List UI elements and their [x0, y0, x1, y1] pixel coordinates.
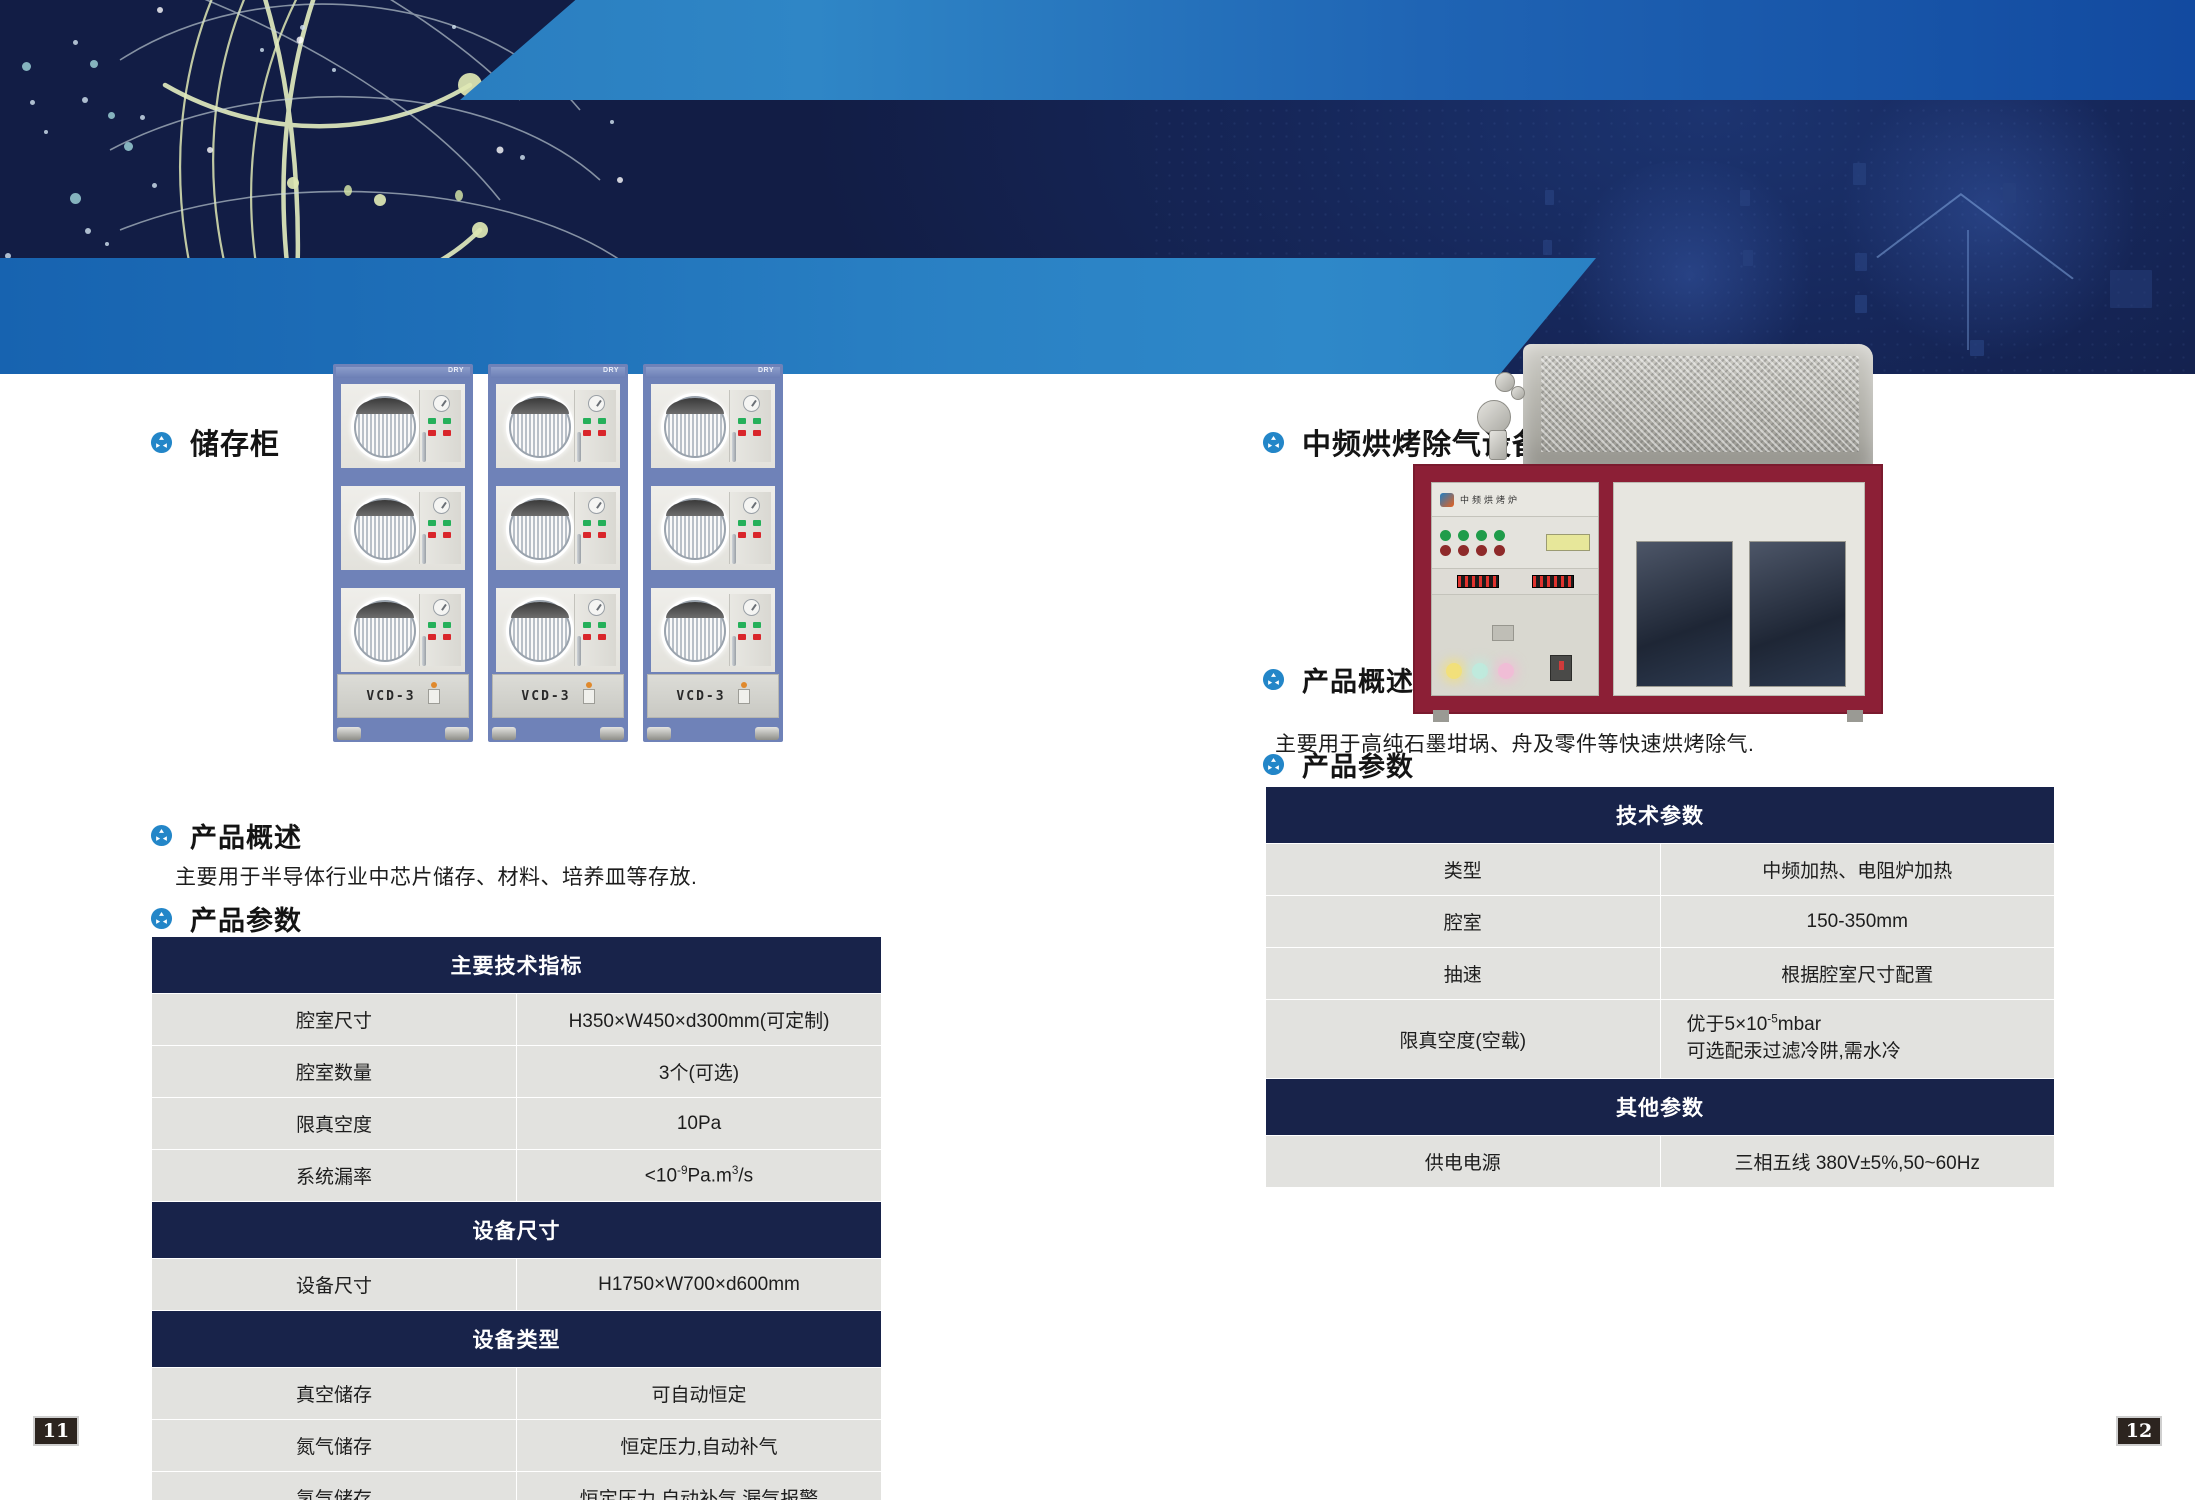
page-number-left: 11	[33, 1416, 79, 1446]
status-led-red	[753, 430, 761, 436]
indicator-lamp-group	[1446, 663, 1514, 679]
chamber-porthole	[664, 498, 726, 560]
power-socket-icon	[428, 689, 440, 704]
pressure-gauge-icon	[588, 395, 605, 412]
right-spec-table: 技术参数 类型 中频加热、电阻炉加热 腔室 150-350mm 抽速 根据腔室尺…	[1265, 786, 2055, 1188]
status-led-red	[753, 532, 761, 538]
cabinet-chamber	[649, 586, 777, 674]
cabinet-base: VCD-3	[647, 674, 779, 718]
furnace-digital-readouts	[1432, 569, 1598, 595]
row-key: 系统漏率	[152, 1150, 517, 1202]
chamber-control-panel	[419, 492, 461, 564]
chamber-porthole	[509, 498, 571, 560]
row-key: 限真空度	[152, 1098, 517, 1150]
table-row: 腔室数量 3个(可选)	[152, 1046, 882, 1098]
recycle-bullet-icon	[150, 907, 173, 930]
left-params-heading-row: 产品参数	[150, 899, 302, 938]
chamber-control-panel	[729, 390, 771, 462]
cabinet-unit-1: DRY	[333, 364, 473, 742]
right-overview-heading-row: 产品概述	[1262, 660, 1414, 699]
status-led-red	[598, 634, 606, 640]
controller-lcd-display	[1546, 534, 1590, 551]
tech-square-11	[2110, 270, 2152, 308]
left-spec-table: 主要技术指标 腔室尺寸 H350×W450×d300mm(可定制) 腔室数量 3…	[151, 936, 882, 1500]
cabinet-chamber	[649, 382, 777, 470]
recycle-bullet-icon	[150, 824, 173, 847]
flange-part	[1511, 386, 1525, 400]
banner-bottom-band	[0, 258, 1596, 374]
tech-square-2	[2003, 183, 2016, 203]
status-led-green	[598, 622, 606, 628]
table-section-header: 其他参数	[1266, 1079, 2055, 1136]
row-key: 设备尺寸	[152, 1259, 517, 1311]
power-socket-icon	[583, 689, 595, 704]
row-key: 氢气储存	[152, 1472, 517, 1500]
chamber-porthole	[509, 396, 571, 458]
row-value-vacuum: 优于5×10-5mbar 可选配汞过滤冷阱,需水冷	[1660, 1000, 2055, 1079]
status-led-green	[443, 520, 451, 526]
status-led-green	[753, 418, 761, 424]
left-overview-heading: 产品概述	[190, 816, 302, 855]
furnace-control-column: 中频烘烤炉	[1431, 482, 1599, 696]
status-led-red	[753, 634, 761, 640]
row-value: 三相五线 380V±5%,50~60Hz	[1660, 1136, 2055, 1188]
status-led-red	[738, 430, 746, 436]
power-socket-icon	[738, 689, 750, 704]
page-banner	[0, 0, 2195, 374]
cabinet-model-label: VCD-3	[676, 689, 725, 704]
cabinet-chamber	[494, 484, 622, 572]
row-value: 根据腔室尺寸配置	[1660, 948, 2055, 1000]
row-value: 中频加热、电阻炉加热	[1660, 844, 2055, 896]
table-row: 系统漏率 <10-9Pa.m3/s	[152, 1150, 882, 1202]
tech-square-6	[1740, 190, 1750, 206]
chamber-porthole	[664, 396, 726, 458]
cabinet-brand-label: DRY	[603, 367, 619, 374]
door-handle	[422, 636, 426, 666]
cabinet-unit-2: DRY	[488, 364, 628, 742]
chamber-porthole	[354, 498, 416, 560]
cabinet-casters	[488, 718, 628, 742]
row-key: 氮气储存	[152, 1420, 517, 1472]
chamber-control-panel	[574, 492, 616, 564]
row-value: 150-350mm	[1660, 896, 2055, 948]
right-overview-heading: 产品概述	[1302, 660, 1414, 699]
chamber-control-panel	[419, 390, 461, 462]
cabinet-chamber	[494, 382, 622, 470]
furnace-lower-panel	[1432, 595, 1598, 695]
banner-glow-1	[1560, 160, 1820, 374]
chamber-control-panel	[574, 594, 616, 666]
table-row: 氮气储存 恒定压力,自动补气	[152, 1420, 882, 1472]
status-led-red	[598, 430, 606, 436]
status-led-red	[738, 634, 746, 640]
lamp-yellow	[1446, 663, 1462, 679]
tech-square-9	[1543, 240, 1552, 255]
cabinet-base: VCD-3	[337, 674, 469, 718]
status-led-red	[428, 634, 436, 640]
table-row: 设备尺寸 H1750×W700×d600mm	[152, 1259, 882, 1311]
table-row: 腔室尺寸 H350×W450×d300mm(可定制)	[152, 994, 882, 1046]
cabinet-chamber	[649, 484, 777, 572]
status-led-red	[598, 532, 606, 538]
left-page-column: 储存柜 DRY	[0, 374, 1097, 1500]
door-handle	[422, 432, 426, 462]
table-section-header: 设备尺寸	[152, 1202, 882, 1259]
row-key: 腔室尺寸	[152, 994, 517, 1046]
row-value: 恒定压力,自动补气,漏气报警	[517, 1472, 882, 1500]
right-page-column: 中频烘烤除气设备 中频烘烤炉	[1097, 374, 2195, 1500]
status-led-red	[428, 430, 436, 436]
status-led-green	[738, 622, 746, 628]
row-value: 可自动恒定	[517, 1368, 882, 1420]
door-handle	[732, 432, 736, 462]
chamber-control-panel	[729, 594, 771, 666]
bay-window-left	[1636, 541, 1733, 687]
door-handle	[732, 534, 736, 564]
tech-square-8	[1545, 190, 1554, 205]
furnace-flange-assembly	[1471, 366, 1541, 452]
row-value: 10Pa	[517, 1098, 882, 1150]
vent-grille-icon	[1492, 625, 1514, 641]
table-row: 真空储存 可自动恒定	[152, 1368, 882, 1420]
row-value: H350×W450×d300mm(可定制)	[517, 994, 882, 1046]
recycle-bullet-icon	[150, 431, 173, 454]
door-handle	[422, 534, 426, 564]
pressure-gauge-icon	[588, 599, 605, 616]
page-number-right: 12	[2116, 1416, 2162, 1446]
cabinet-chamber	[339, 484, 467, 572]
status-led-green	[428, 520, 436, 526]
left-product-title: 储存柜	[190, 421, 280, 463]
row-value: 3个(可选)	[517, 1046, 882, 1098]
furnace-cabinet-inner: 中频烘烤炉	[1431, 482, 1865, 696]
induction-furnace-image: 中频烘烤炉	[1413, 344, 1883, 744]
status-led-red	[428, 532, 436, 538]
cabinet-casters	[333, 718, 473, 742]
left-product-title-row: 储存柜	[150, 421, 280, 463]
status-led-red	[443, 430, 451, 436]
status-led-red	[583, 430, 591, 436]
table-row: 腔室 150-350mm	[1266, 896, 2055, 948]
chamber-control-panel	[419, 594, 461, 666]
cabinet-base: VCD-3	[492, 674, 624, 718]
row-key: 供电电源	[1266, 1136, 1661, 1188]
pressure-gauge-icon	[743, 497, 760, 514]
pressure-gauge-icon	[433, 497, 450, 514]
left-overview-heading-row: 产品概述	[150, 816, 302, 855]
status-led-green	[428, 418, 436, 424]
row-key: 类型	[1266, 844, 1661, 896]
status-led-red	[443, 532, 451, 538]
status-led-red	[738, 532, 746, 538]
section-title: 技术参数	[1266, 787, 2055, 844]
section-title: 主要技术指标	[152, 937, 882, 994]
recycle-bullet-icon	[1262, 431, 1285, 454]
cabinet-casters	[643, 718, 783, 742]
tech-square-5	[1970, 340, 1984, 356]
tech-square-3	[1855, 253, 1867, 271]
table-section-header: 主要技术指标	[152, 937, 882, 994]
pressure-gauge-icon	[743, 599, 760, 616]
button-pair[interactable]	[1440, 530, 1451, 556]
chamber-porthole	[354, 600, 416, 662]
tech-square-1	[1853, 163, 1866, 185]
lamp-cyan	[1472, 663, 1488, 679]
table-row: 限真空度 10Pa	[152, 1098, 882, 1150]
table-row: 氢气储存 恒定压力,自动补气,漏气报警	[152, 1472, 882, 1500]
section-title: 其他参数	[1266, 1079, 2055, 1136]
pressure-gauge-icon	[743, 395, 760, 412]
cabinet-model-label: VCD-3	[521, 689, 570, 704]
chamber-control-panel	[574, 390, 616, 462]
cabinet-brand-label: DRY	[758, 367, 774, 374]
button-pair[interactable]	[1458, 530, 1469, 556]
table-section-header: 技术参数	[1266, 787, 2055, 844]
left-overview-text: 主要用于半导体行业中芯片储存、材料、培养皿等存放.	[175, 861, 697, 891]
cabinet-model-label: VCD-3	[366, 689, 415, 704]
furnace-equipment-bay	[1613, 482, 1865, 696]
table-row: 抽速 根据腔室尺寸配置	[1266, 948, 2055, 1000]
cabinet-unit-3: DRY	[643, 364, 783, 742]
button-pair[interactable]	[1476, 530, 1487, 556]
cabinet-chamber	[339, 382, 467, 470]
furnace-vacuum-chamber	[1523, 344, 1873, 474]
furnace-name-label: 中频烘烤炉	[1460, 493, 1520, 506]
chamber-porthole	[509, 600, 571, 662]
table-row: 供电电源 三相五线 380V±5%,50~60Hz	[1266, 1136, 2055, 1188]
chamber-control-panel	[729, 492, 771, 564]
table-row: 类型 中频加热、电阻炉加热	[1266, 844, 2055, 896]
door-handle	[577, 636, 581, 666]
table-row: 限真空度(空载) 优于5×10-5mbar 可选配汞过滤冷阱,需水冷	[1266, 1000, 2055, 1079]
tech-square-4	[1855, 295, 1867, 313]
chamber-porthole	[354, 396, 416, 458]
company-logo-icon	[1440, 493, 1454, 507]
flange-part	[1477, 400, 1511, 434]
row-value: 恒定压力,自动补气	[517, 1420, 882, 1472]
furnace-button-panel	[1432, 517, 1598, 569]
right-params-heading: 产品参数	[1302, 745, 1414, 784]
row-value-leakrate: <10-9Pa.m3/s	[517, 1150, 882, 1202]
cabinet-chamber	[339, 586, 467, 674]
door-handle	[577, 534, 581, 564]
row-key: 真空储存	[152, 1368, 517, 1420]
door-handle	[732, 636, 736, 666]
tech-square-7	[1743, 250, 1753, 266]
cabinet-chamber	[494, 586, 622, 674]
banner-top-parallelogram	[460, 0, 2195, 100]
equipment-bay-windows	[1636, 541, 1846, 687]
row-key: 抽速	[1266, 948, 1661, 1000]
status-led-green	[443, 418, 451, 424]
flange-part	[1489, 430, 1507, 460]
pressure-gauge-icon	[433, 395, 450, 412]
storage-cabinet-image: DRY	[333, 364, 783, 754]
status-led-green	[753, 520, 761, 526]
status-led-red	[443, 634, 451, 640]
status-led-green	[428, 622, 436, 628]
door-handle	[577, 432, 581, 462]
status-led-green	[738, 418, 746, 424]
row-key: 限真空度(空载)	[1266, 1000, 1661, 1079]
vacuum-line-2: 可选配汞过滤冷阱,需水冷	[1687, 1041, 1901, 1062]
chamber-porthole	[664, 600, 726, 662]
recycle-bullet-icon	[1262, 668, 1285, 691]
banner-vline	[1967, 230, 1969, 350]
status-led-green	[443, 622, 451, 628]
digital-readout	[1457, 575, 1499, 588]
pressure-gauge-icon	[588, 497, 605, 514]
digital-readout	[1532, 575, 1574, 588]
button-pair[interactable]	[1494, 530, 1505, 556]
row-value: H1750×W700×d600mm	[517, 1259, 882, 1311]
bay-window-right	[1749, 541, 1846, 687]
vacuum-line-1: 优于5×10-5mbar	[1687, 1014, 1822, 1035]
section-title: 设备尺寸	[152, 1202, 882, 1259]
status-led-green	[753, 622, 761, 628]
recycle-bullet-icon	[1262, 753, 1285, 776]
chamber-mesh-texture	[1541, 356, 1859, 452]
status-led-green	[583, 622, 591, 628]
spacer	[1293, 745, 1299, 746]
table-section-header: 设备类型	[152, 1311, 882, 1368]
status-led-red	[583, 532, 591, 538]
furnace-brand-bar: 中频烘烤炉	[1432, 483, 1598, 517]
power-switch[interactable]	[1550, 655, 1572, 681]
lamp-pink	[1498, 663, 1514, 679]
status-led-green	[598, 520, 606, 526]
status-led-red	[583, 634, 591, 640]
status-led-green	[583, 418, 591, 424]
row-key: 腔室	[1266, 896, 1661, 948]
status-led-green	[598, 418, 606, 424]
cabinet-brand-label: DRY	[448, 367, 464, 374]
brochure-page: 储存柜 DRY	[0, 0, 2195, 1500]
right-params-heading-row: 产品参数	[1262, 745, 1414, 784]
status-led-green	[738, 520, 746, 526]
status-led-green	[583, 520, 591, 526]
pressure-gauge-icon	[433, 599, 450, 616]
furnace-cabinet-frame: 中频烘烤炉	[1413, 464, 1883, 714]
section-title: 设备类型	[152, 1311, 882, 1368]
left-params-heading: 产品参数	[190, 899, 302, 938]
row-key: 腔室数量	[152, 1046, 517, 1098]
